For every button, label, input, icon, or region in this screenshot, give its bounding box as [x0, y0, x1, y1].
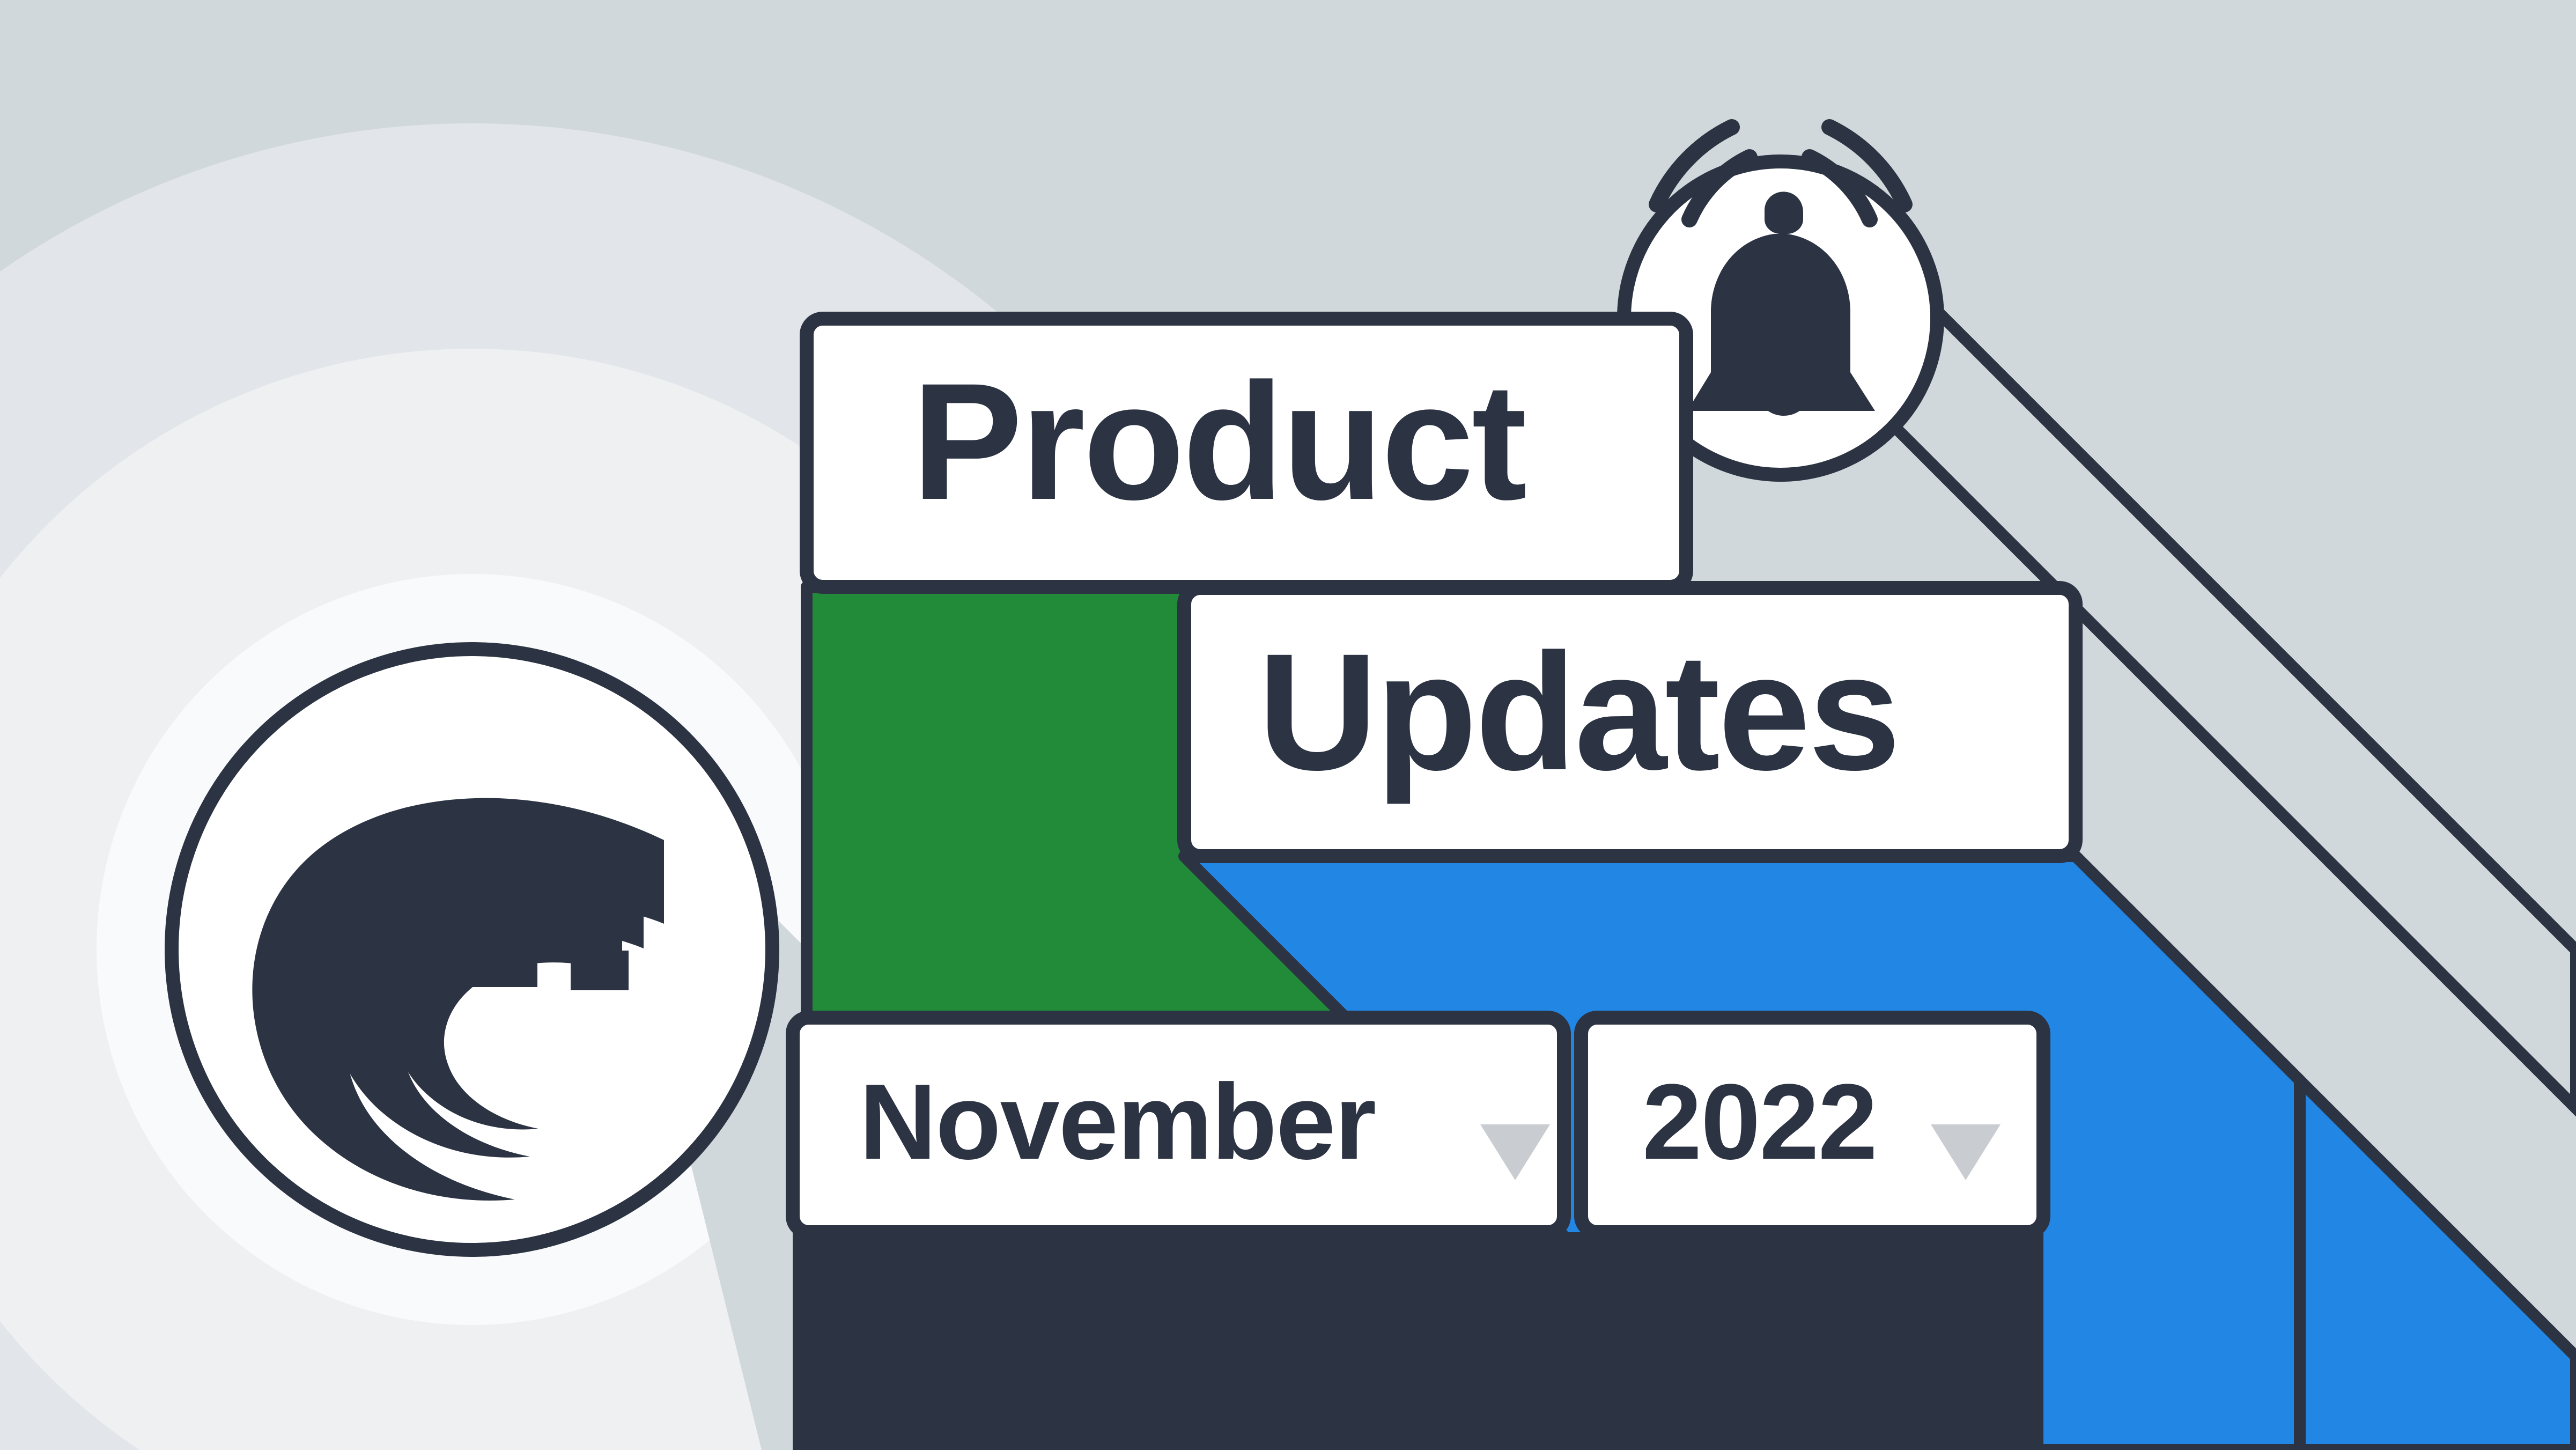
- title-card-updates: Updates: [1184, 588, 2076, 856]
- title-product: Product: [912, 348, 1526, 534]
- title-card-product: Product: [807, 319, 1686, 587]
- product-updates-banner: Product Updates November 2022: [0, 0, 2576, 1450]
- brand-logo[interactable]: [172, 649, 772, 1250]
- date-shadow-slab: [793, 1232, 2043, 1450]
- year-select-value: 2022: [1642, 1062, 1877, 1182]
- month-select[interactable]: November: [793, 1018, 1564, 1232]
- title-updates: Updates: [1258, 619, 1899, 806]
- year-select[interactable]: 2022: [1581, 1018, 2043, 1232]
- month-select-value: November: [859, 1062, 1375, 1182]
